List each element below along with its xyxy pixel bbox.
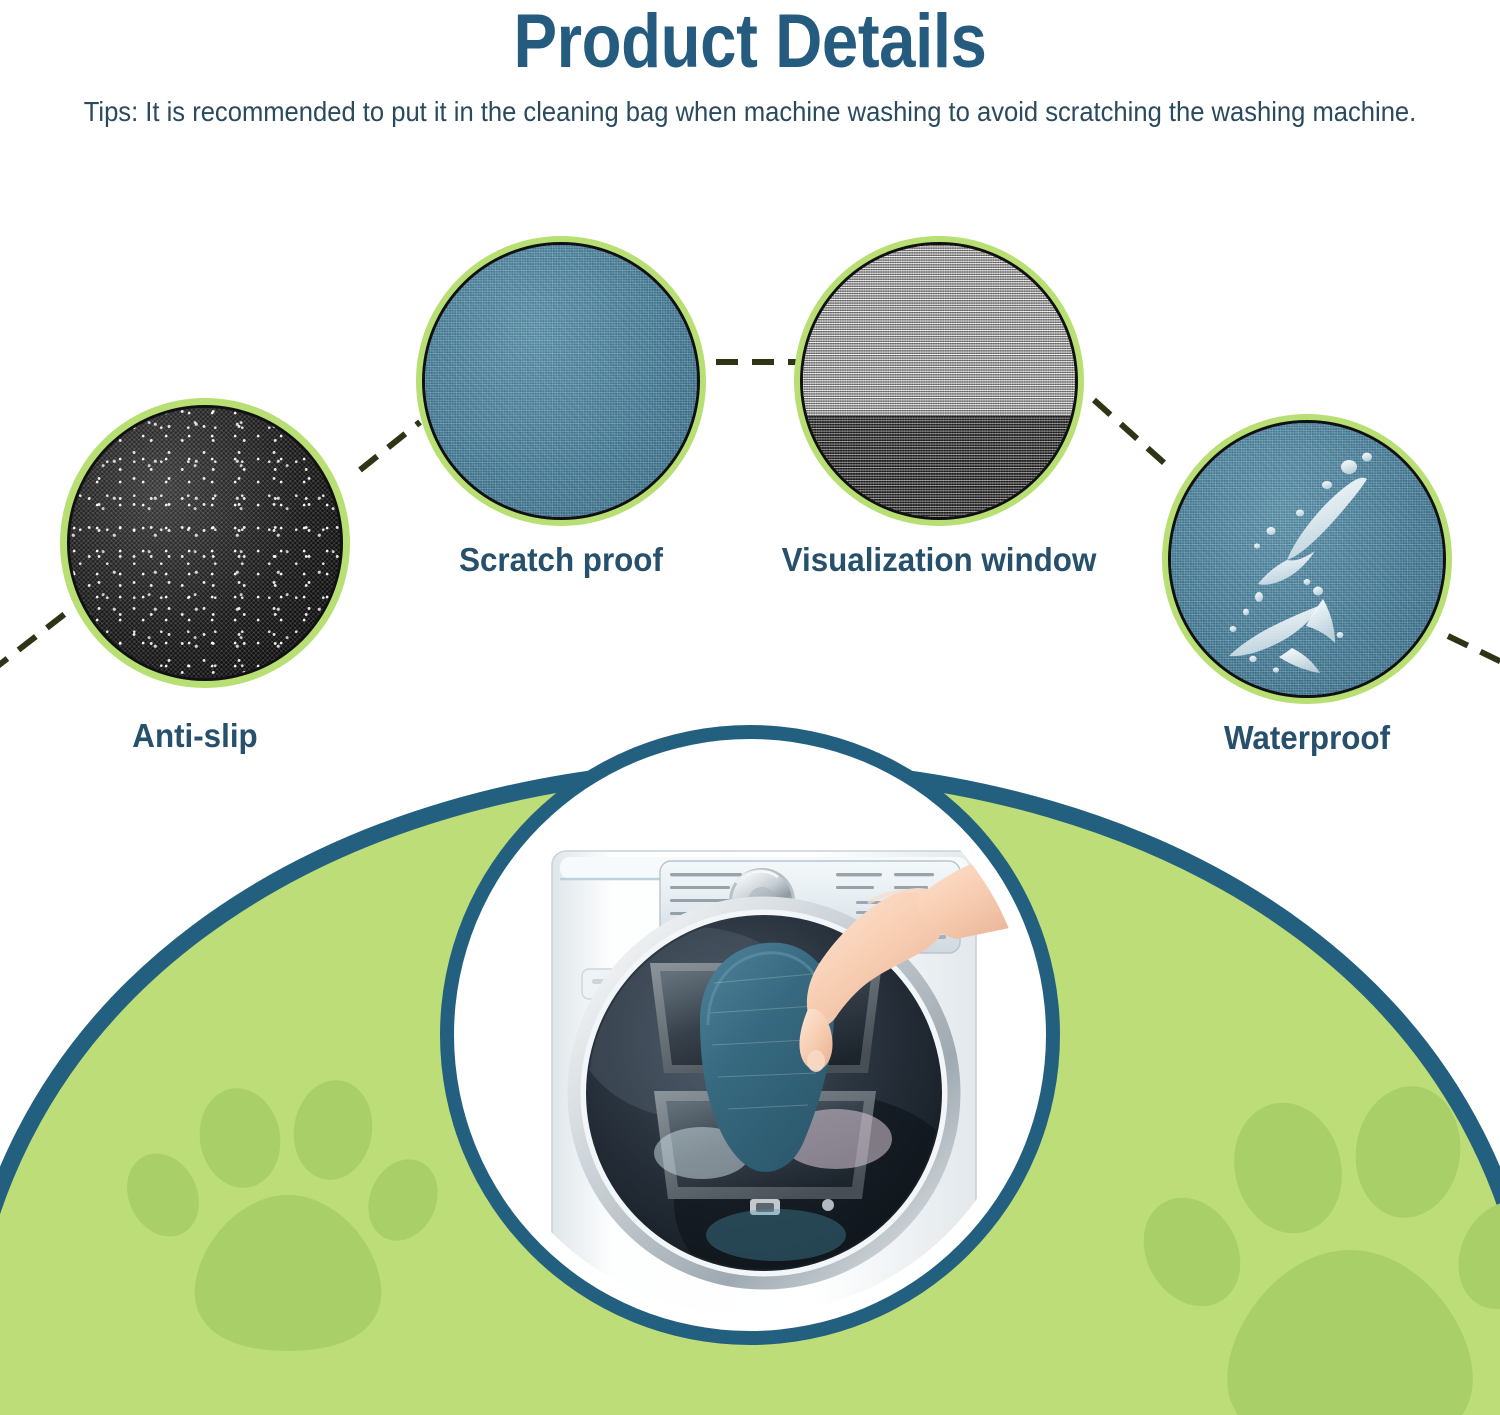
washing-machine-illustration [470,773,1030,1315]
scratch-proof-circle-ring [416,236,706,526]
waterproof-texture-image [1171,423,1443,695]
washing-machine-photo-circle [470,755,1030,1315]
page-title: Product Details [105,4,1395,80]
feature-label-scratch-proof: Scratch proof [352,540,770,580]
anti-slip-texture-image [70,408,340,678]
mesh-light-area [803,245,1075,416]
fingernail [807,1050,825,1072]
visualization-window-circle-ring [794,236,1084,526]
mesh-dark-area [803,416,1075,517]
tips-text: Tips: It is recommended to put it in the… [53,94,1448,130]
blue-linen-fabric-texture [425,245,697,517]
water-splash-icon [1171,423,1443,695]
bottom-scene [0,690,1500,1415]
header: Product Details Tips: It is recommended … [0,0,1500,180]
scratch-proof-texture-image [425,245,697,517]
feature-visualization-window: Visualization window [794,236,1084,526]
feature-label-anti-slip: Anti-slip [0,716,404,756]
feature-waterproof: Waterproof [1162,414,1452,704]
feature-scratch-proof: Scratch proof [416,236,706,526]
feature-anti-slip: Anti-slip [60,398,350,688]
black-mesh-antislip-texture [70,408,340,678]
grey-mesh-window-texture [803,245,1075,517]
washing-machine-photo [470,755,1030,1315]
anti-slip-circle-ring [60,398,350,688]
visualization-window-texture-image [803,245,1075,517]
feature-label-visualization-window: Visualization window [730,540,1148,580]
waterproof-circle-ring [1162,414,1452,704]
feature-label-waterproof: Waterproof [1098,718,1500,758]
